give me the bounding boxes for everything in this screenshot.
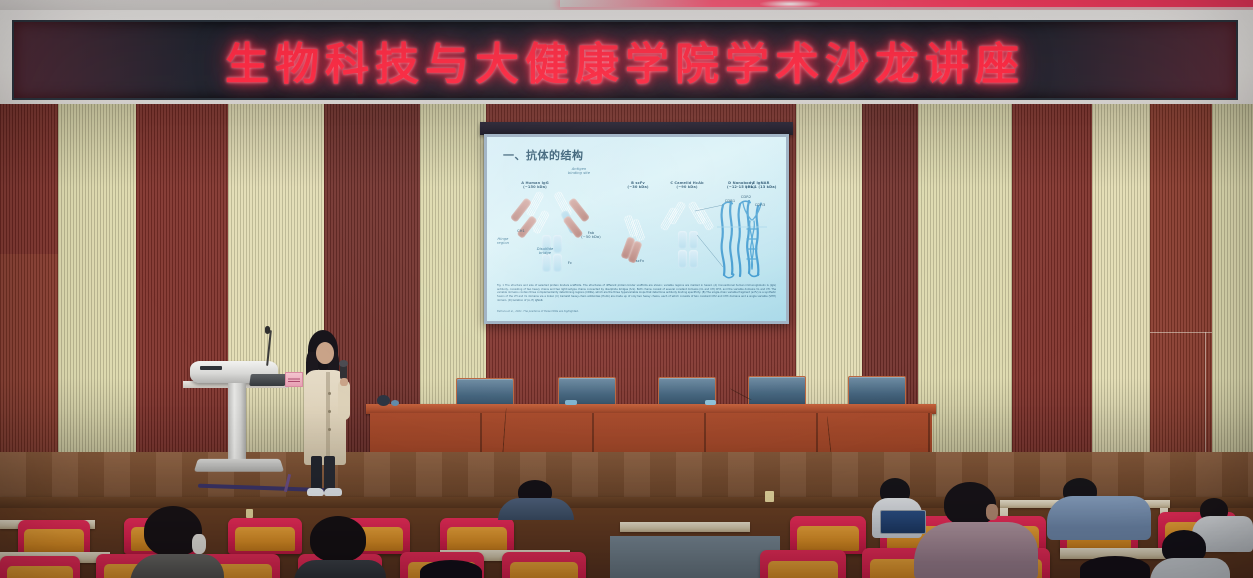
table-item-paper[interactable] [565,400,577,405]
seat-cushion [510,562,579,578]
audience-person [420,560,482,578]
ceiling-light-hotspot [760,0,820,8]
gooseneck-mic-head [265,326,270,334]
audience-seat[interactable] [440,518,514,554]
wall-panel-cream [1212,104,1253,484]
wall-panel-dark [1012,104,1092,484]
wall-panel-cream [918,104,1012,484]
screen-bezel: 一、抗体的结构 [484,134,789,324]
presenter-leg [324,456,335,492]
wall-panel-dark [0,254,58,484]
coat-button [328,428,331,431]
person-torso [498,498,574,520]
audience-seat[interactable] [502,552,586,578]
audience-person [128,506,224,578]
figure-label-disulfide: Disulfide bridge [531,247,559,256]
figure-caption-source: Bathula et al., 2021. The positions of t… [497,310,706,313]
person-torso [914,522,1038,578]
microphone-head [339,360,348,367]
presenter-hand [340,378,348,386]
presenter-arm [338,380,350,420]
audience-person [498,480,574,514]
center-aisle [610,536,780,578]
audience-seat[interactable] [760,550,846,578]
wall-panel-cream [1092,104,1150,484]
audience-person [1080,556,1150,578]
figure-label-antigen: Antigen binding site [561,167,597,176]
face-mask [192,534,206,554]
seat-cushion [447,527,508,551]
presenter-leg [311,456,322,492]
paper-cup[interactable] [765,491,774,502]
wall-panel-cream [58,104,136,484]
led-banner: 生物科技与大健康学院学术沙龙讲座 [12,20,1238,100]
person-hair [1080,556,1150,578]
wall-panel-dark [0,104,58,254]
seat-cushion [24,529,83,553]
person-ear [986,504,998,520]
figure-label-a: A Human IgG (~150 kDa) [507,181,563,190]
audience-person [1045,478,1155,538]
person-torso [1150,558,1230,578]
audience-person [292,516,386,578]
person-hair [310,516,366,562]
audience-seat[interactable] [228,518,302,554]
seat-cushion [797,526,859,551]
ceiling-light-strip [560,0,1253,7]
wall-panel-dark [136,104,228,484]
paper-cup[interactable] [246,509,253,518]
audience-seat[interactable] [18,520,90,556]
door-top-edge [1150,332,1212,333]
figure-label-e: E IgNAR (~1.1 (13 kDa) [739,181,783,190]
table-item-paper[interactable] [705,400,716,405]
presenter-face [316,342,334,364]
figure-label-cdr1: CDR1 [723,199,737,203]
figure-label-fab: Fab (~50 kDa) [579,231,603,240]
figure-label-cdr3: CDR3 [753,203,767,207]
banner-title-text: 生物科技与大健康学院学术沙龙讲座 [14,28,1236,92]
figure-label-b: B scFv (~30 kDa) [617,181,659,190]
figure-label-fc: Fc [563,261,577,265]
figure-label-hinge: Hinge region [490,237,516,246]
figure-label-c: C Camelid HcAb (~90 kDa) [661,181,713,190]
audience-seat[interactable] [790,516,866,554]
presentation-slide: 一、抗体的结构 [487,137,786,321]
figure-label-cdr2: CDR2 [739,195,753,199]
seat-cushion [768,561,839,578]
figure-label-scfv: scFv [631,259,649,263]
audience-desk [620,522,750,532]
person-torso [1047,496,1151,540]
seat-cushion [235,527,296,551]
presenter-shoe [324,488,342,496]
person-torso [294,560,386,578]
coat-button [328,392,331,395]
table-item-object[interactable] [391,400,399,406]
seat-cushion [7,566,73,578]
lectern-brand-badge [200,366,222,370]
presenter [296,330,356,495]
presenter-shoe [307,488,324,496]
wall-panel-dark-door[interactable] [1150,104,1212,484]
lectern-base [194,459,284,472]
projection-screen[interactable]: 一、抗体的结构 [484,122,789,324]
table-item-bag[interactable] [377,395,390,406]
person-torso [130,554,224,578]
person-hair [420,560,482,578]
audience-person [910,482,1040,578]
coat-button [328,410,331,413]
figure-label-ch1: CH1 [514,229,528,233]
audience-person [1150,530,1230,578]
lectern-control-panel[interactable] [249,374,287,386]
presenter-coat-placket [326,372,330,464]
lecture-hall-photo: 生物科技与大健康学院学术沙龙讲座 一、抗体的结构 [0,0,1253,578]
lectern-column [228,383,246,460]
figure-caption: Fig. 1 The structure and size of selecte… [497,284,776,303]
audience-seat[interactable] [0,556,80,578]
